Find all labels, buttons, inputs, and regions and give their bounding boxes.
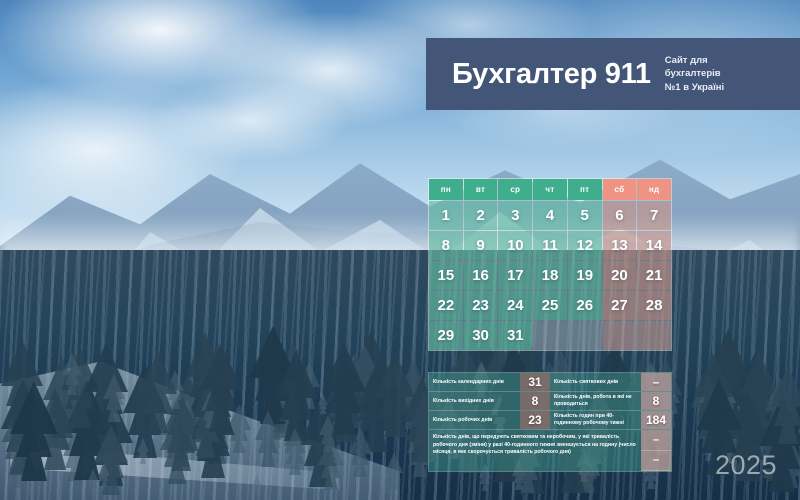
calendar-day-1[interactable]: 1 xyxy=(429,201,463,230)
calendar-day-5[interactable]: 5 xyxy=(568,201,602,230)
calendar-day-14[interactable]: 14 xyxy=(637,231,671,260)
calendar-day-empty xyxy=(603,321,637,350)
calendar-day-11[interactable]: 11 xyxy=(533,231,567,260)
stats-note-value: – xyxy=(641,430,671,451)
calendar-day-31[interactable]: 31 xyxy=(498,321,532,350)
stats-note-value: – xyxy=(641,451,671,472)
weekday-header-пт: пт xyxy=(568,179,602,200)
calendar-day-10[interactable]: 10 xyxy=(498,231,532,260)
calendar-day-30[interactable]: 30 xyxy=(464,321,498,350)
calendar-day-empty xyxy=(637,321,671,350)
calendar-day-22[interactable]: 22 xyxy=(429,291,463,320)
weekday-header-чт: чт xyxy=(533,179,567,200)
brand-subtitle: Сайт для бухгалтерів №1 в Україні xyxy=(665,54,724,94)
brand-subtitle-line-2: бухгалтерів xyxy=(665,67,724,80)
weekday-header-нд: нд xyxy=(637,179,671,200)
calendar-day-21[interactable]: 21 xyxy=(637,261,671,290)
calendar-day-25[interactable]: 25 xyxy=(533,291,567,320)
stat-label-left: Кількість робочих днів xyxy=(429,411,520,429)
calendar-day-6[interactable]: 6 xyxy=(603,201,637,230)
stat-label-right: Кількість днів, робота в які не проводит… xyxy=(550,392,641,410)
calendar-day-12[interactable]: 12 xyxy=(568,231,602,260)
calendar-day-29[interactable]: 29 xyxy=(429,321,463,350)
calendar-day-18[interactable]: 18 xyxy=(533,261,567,290)
brand-subtitle-line-3: №1 в Україні xyxy=(665,81,724,94)
calendar-day-24[interactable]: 24 xyxy=(498,291,532,320)
calendar-grid: пнвтсрчтптсбнд12345678910111213141516171… xyxy=(428,178,672,351)
calendar-day-27[interactable]: 27 xyxy=(603,291,637,320)
year-label: 2025 xyxy=(715,450,777,481)
calendar-day-19[interactable]: 19 xyxy=(568,261,602,290)
weekday-header-вт: вт xyxy=(464,179,498,200)
calendar-day-23[interactable]: 23 xyxy=(464,291,498,320)
stats-note-row: Кількість днів, що передують святковим т… xyxy=(429,430,671,471)
calendar-day-17[interactable]: 17 xyxy=(498,261,532,290)
calendar-day-7[interactable]: 7 xyxy=(637,201,671,230)
stat-value-right: – xyxy=(641,373,671,391)
stat-row: Кількість вихідних днів8Кількість днів, … xyxy=(429,392,671,411)
weekday-header-сб: сб xyxy=(603,179,637,200)
brand-title: Бухгалтер 911 xyxy=(452,60,651,89)
calendar-day-15[interactable]: 15 xyxy=(429,261,463,290)
stat-value-left: 31 xyxy=(520,373,550,391)
calendar-day-26[interactable]: 26 xyxy=(568,291,602,320)
calendar-day-empty xyxy=(568,321,602,350)
stat-row: Кількість робочих днів23Кількість годин … xyxy=(429,411,671,430)
calendar-day-9[interactable]: 9 xyxy=(464,231,498,260)
stats-note-values: –– xyxy=(641,430,671,471)
calendar-day-28[interactable]: 28 xyxy=(637,291,671,320)
weekday-header-пн: пн xyxy=(429,179,463,200)
stat-value-left: 8 xyxy=(520,392,550,410)
calendar-day-8[interactable]: 8 xyxy=(429,231,463,260)
stats-panel: Кількість календарних днів31Кількість св… xyxy=(428,372,672,472)
stats-note-text: Кількість днів, що передують святковим т… xyxy=(429,430,641,471)
calendar-day-4[interactable]: 4 xyxy=(533,201,567,230)
calendar-day-20[interactable]: 20 xyxy=(603,261,637,290)
calendar-day-16[interactable]: 16 xyxy=(464,261,498,290)
stat-value-right: 8 xyxy=(641,392,671,410)
stat-row: Кількість календарних днів31Кількість св… xyxy=(429,373,671,392)
calendar-day-3[interactable]: 3 xyxy=(498,201,532,230)
calendar-day-13[interactable]: 13 xyxy=(603,231,637,260)
stat-value-right: 184 xyxy=(641,411,671,429)
brand-subtitle-line-1: Сайт для xyxy=(665,54,724,67)
stat-value-left: 23 xyxy=(520,411,550,429)
brand-header: Бухгалтер 911 Сайт для бухгалтерів №1 в … xyxy=(426,38,800,110)
calendar-day-empty xyxy=(533,321,567,350)
stat-label-left: Кількість вихідних днів xyxy=(429,392,520,410)
calendar-day-2[interactable]: 2 xyxy=(464,201,498,230)
stat-label-left: Кількість календарних днів xyxy=(429,373,520,391)
stat-label-right: Кількість годин при 40-годинному робочом… xyxy=(550,411,641,429)
stat-label-right: Кількість святкових днів xyxy=(550,373,641,391)
weekday-header-ср: ср xyxy=(498,179,532,200)
